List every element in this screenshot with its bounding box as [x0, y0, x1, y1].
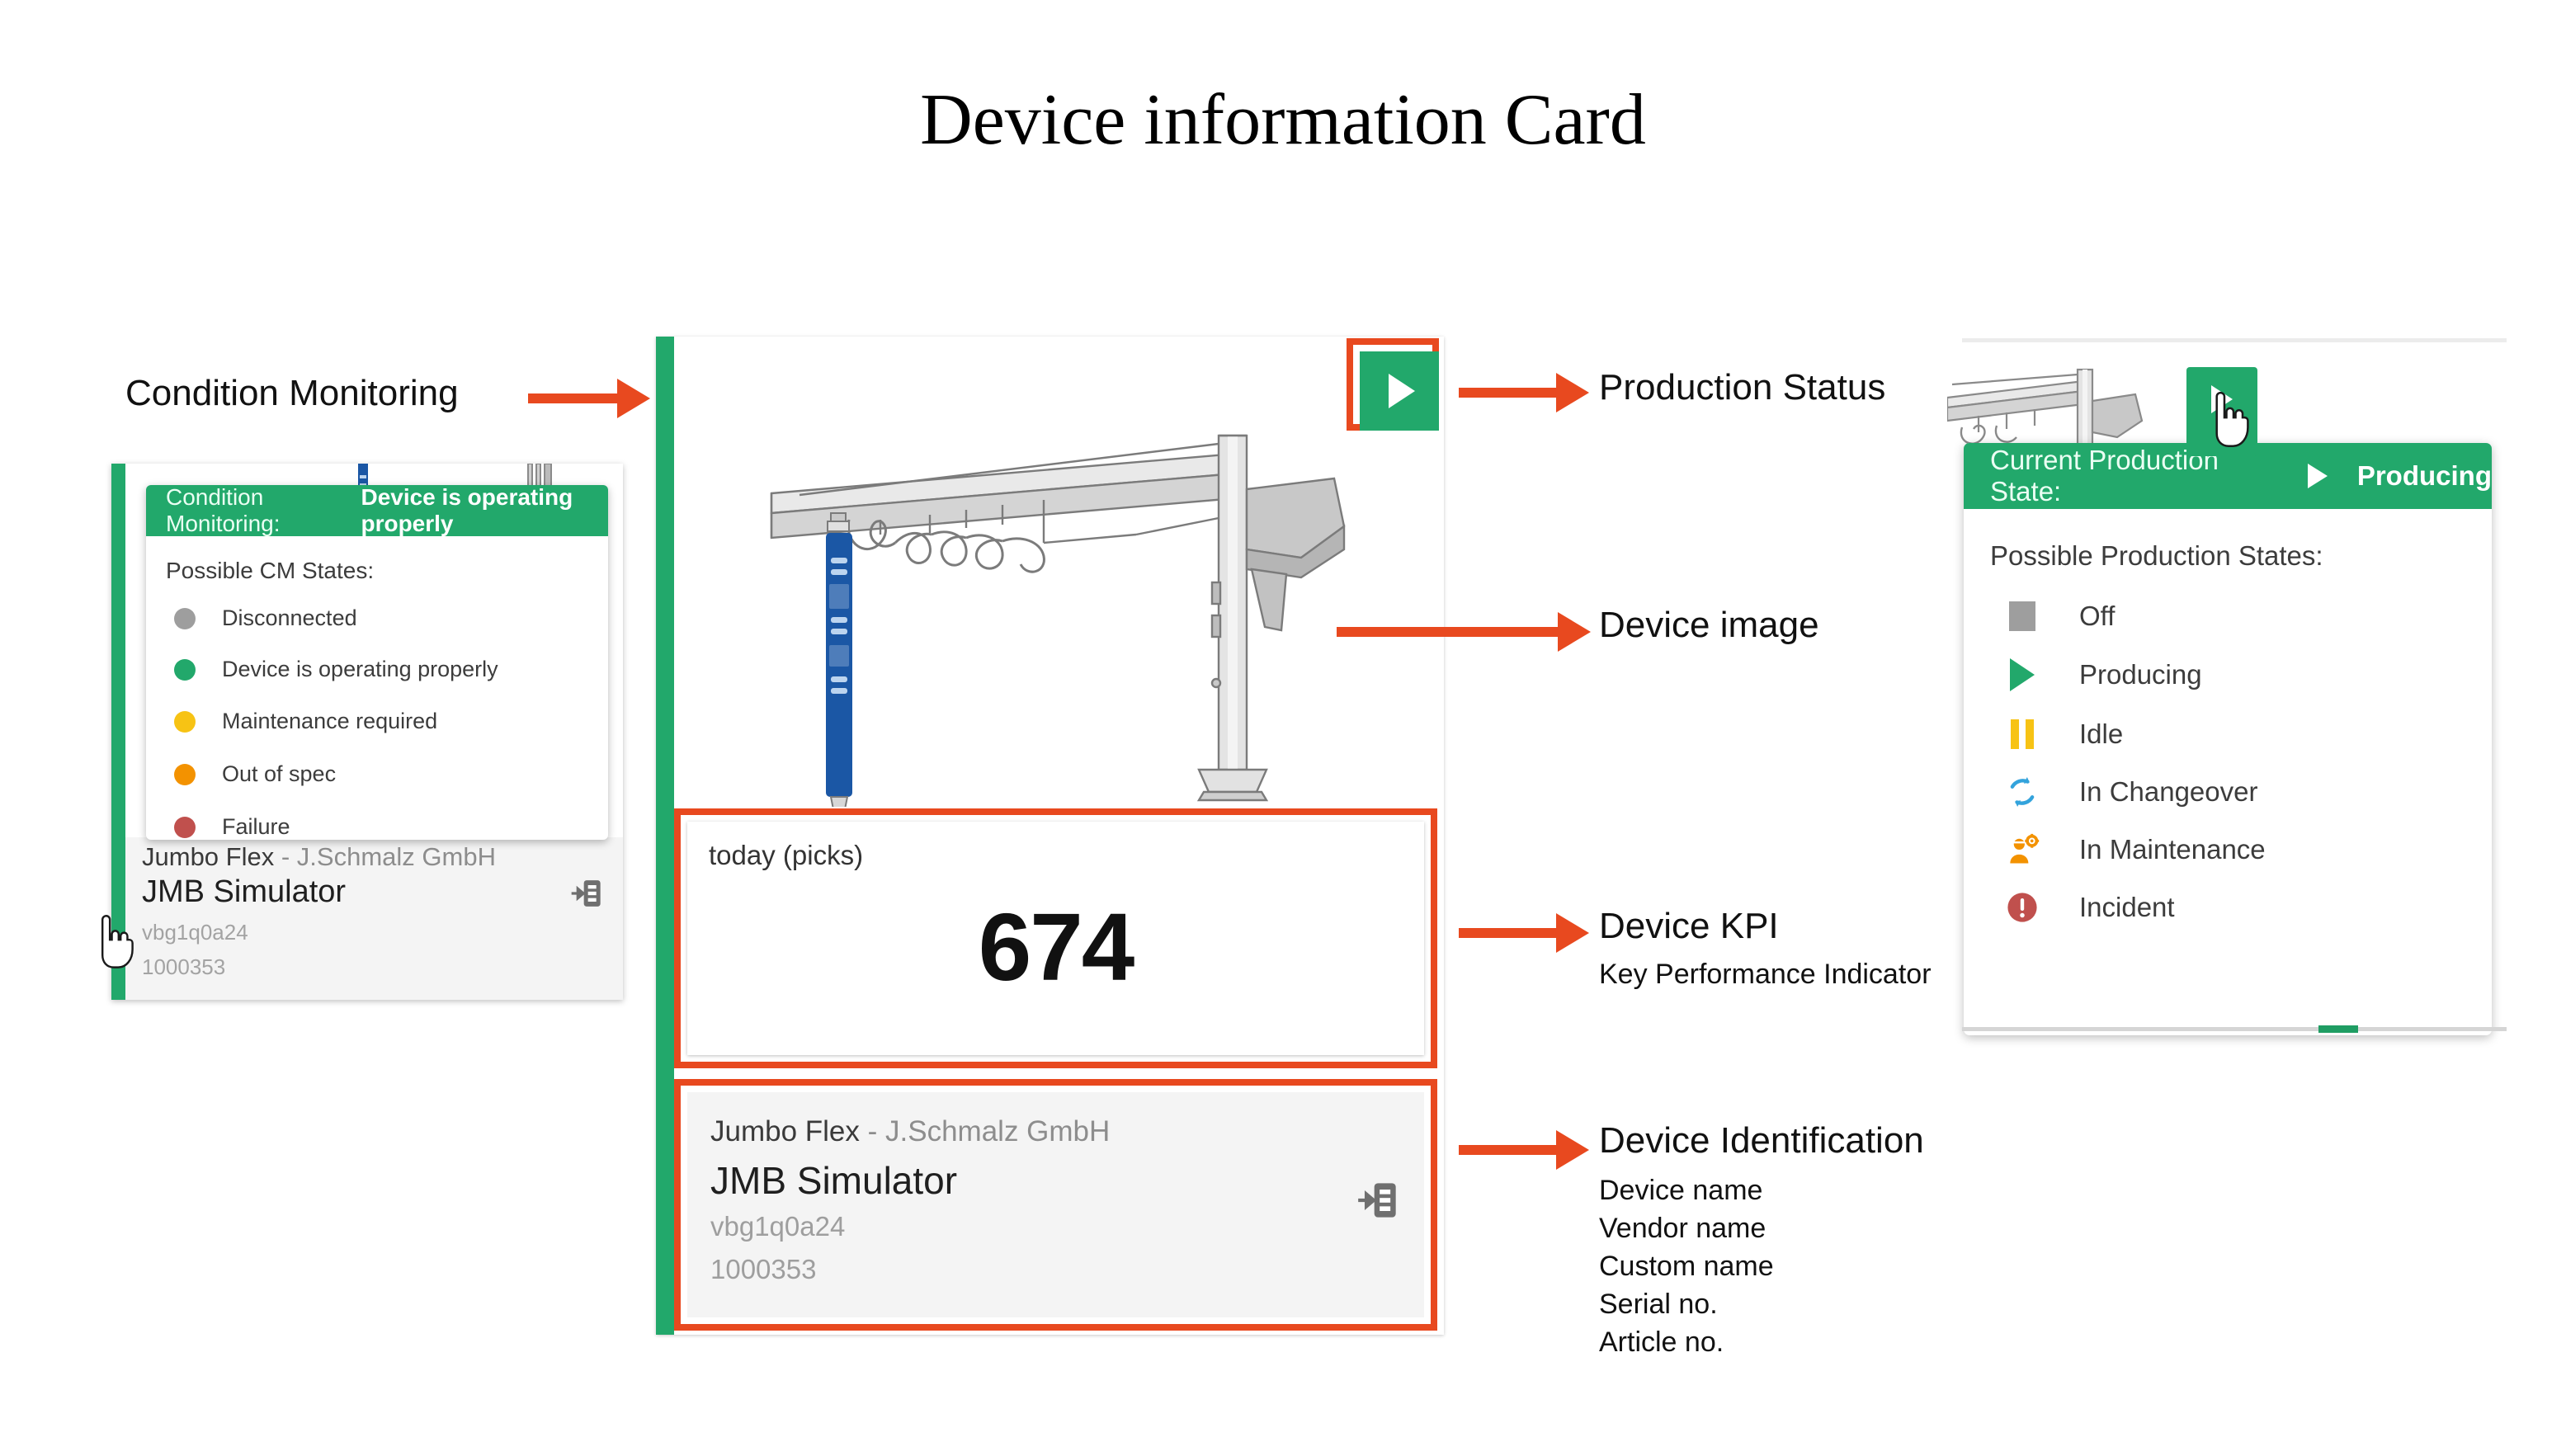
ps-state-label: Producing: [2079, 659, 2202, 690]
custom-name-left: JMB Simulator: [142, 874, 346, 910]
device-name: Jumbo Flex: [710, 1115, 860, 1147]
kpi-label: today (picks): [709, 840, 863, 871]
cm-state-row: Out of spec: [174, 761, 336, 787]
stop-square-icon: [2003, 597, 2041, 635]
cm-state-row: Failure: [174, 814, 290, 840]
annotation-sub-vendor-name: Vendor name: [1599, 1209, 1766, 1247]
status-dot-icon: [174, 659, 196, 681]
login-icon-left[interactable]: [570, 877, 603, 910]
condition-monitoring-status-strip[interactable]: [656, 337, 674, 1335]
cm-state-row: Device is operating properly: [174, 657, 498, 682]
ps-state-label: Idle: [2079, 719, 2123, 750]
cm-state-row: Disconnected: [174, 605, 357, 631]
annotation-title-production-status: Production Status: [1599, 367, 1885, 408]
card-bottom-green-marker: [2318, 1025, 2358, 1033]
annotation-sub-custom-name: Custom name: [1599, 1247, 1774, 1285]
cm-possible-states-label: Possible CM States:: [166, 558, 374, 584]
ps-state-row: Off: [2003, 597, 2115, 635]
pointing-hand-cursor-left: [91, 911, 137, 973]
cm-state-label: Maintenance required: [222, 709, 437, 734]
ps-possible-states-label: Possible Production States:: [1990, 540, 2323, 572]
device-name-left: Jumbo Flex: [142, 842, 274, 871]
serial-no-left: vbg1q0a24: [142, 920, 248, 945]
annotation-title-device-image: Device image: [1599, 605, 1819, 646]
annotation-sub-serial-no: Serial no.: [1599, 1285, 1718, 1323]
kpi-value: 674: [687, 892, 1424, 1002]
exclamation-circle-icon: [2003, 888, 2041, 926]
ps-state-row: In Maintenance: [2003, 831, 2266, 869]
name-separator-left: -: [274, 842, 297, 871]
ps-state-label: Incident: [2079, 892, 2175, 923]
cm-state-row: Maintenance required: [174, 709, 437, 734]
sync-arrows-icon: [2003, 773, 2041, 811]
play-icon: [2003, 656, 2041, 694]
annotation-title-device-kpi: Device KPI: [1599, 906, 1779, 947]
status-dot-icon: [174, 711, 196, 733]
article-no-left: 1000353: [142, 954, 225, 980]
device-kpi-card[interactable]: today (picks) 674: [687, 822, 1424, 1055]
device-kpi-highlight: today (picks) 674: [674, 808, 1437, 1068]
play-icon: [2308, 464, 2328, 488]
pause-icon: [2003, 715, 2041, 753]
annotation-title-condition-monitoring: Condition Monitoring: [125, 373, 459, 414]
custom-name: JMB Simulator: [710, 1158, 957, 1203]
condition-monitoring-tooltip: Condition Monitoring: Device is operatin…: [146, 485, 608, 840]
annotation-title-device-identification: Device Identification: [1599, 1120, 1924, 1162]
device-and-vendor-line: Jumbo Flex - J.Schmalz GmbH: [710, 1115, 1110, 1148]
ps-state-row: Incident: [2003, 888, 2175, 926]
pointing-hand-cursor-right: [2205, 388, 2252, 452]
serial-no: vbg1q0a24: [710, 1211, 845, 1242]
article-no: 1000353: [710, 1254, 816, 1285]
annotation-sub-article-no: Article no.: [1599, 1323, 1724, 1361]
device-and-vendor-line-left: Jumbo Flex - J.Schmalz GmbH: [142, 842, 496, 872]
device-identification-card-left[interactable]: Jumbo Flex - J.Schmalz GmbH JMB Simulato…: [125, 837, 623, 1000]
device-identification-card[interactable]: Jumbo Flex - J.Schmalz GmbH JMB Simulato…: [687, 1092, 1424, 1317]
ps-state-row: In Changeover: [2003, 773, 2257, 811]
ps-state-row: Producing: [2003, 656, 2202, 694]
play-icon: [1389, 374, 1415, 408]
device-image: [674, 337, 1444, 807]
status-dot-icon: [174, 817, 196, 838]
jib-crane-vacuum-lifter-illustration: [674, 337, 1444, 807]
ps-state-label: Off: [2079, 601, 2115, 632]
condition-monitoring-tooltip-header: Condition Monitoring: Device is operatin…: [146, 485, 608, 536]
cm-state-label: Device is operating properly: [222, 657, 498, 682]
card-bottom-divider: [1962, 1027, 2507, 1031]
cm-header-value: Device is operating properly: [361, 484, 608, 537]
cm-state-label: Disconnected: [222, 605, 357, 631]
login-icon[interactable]: [1356, 1179, 1399, 1222]
ps-state-label: In Changeover: [2079, 776, 2257, 808]
worker-gear-icon: [2003, 831, 2041, 869]
production-status-button[interactable]: [1360, 351, 1439, 431]
ps-header-value: Producing: [2357, 460, 2492, 492]
cm-state-label: Out of spec: [222, 761, 336, 787]
vendor-name: J.Schmalz GmbH: [885, 1115, 1110, 1147]
ps-state-row: Idle: [2003, 715, 2123, 753]
card-top-divider: [1962, 338, 2507, 342]
name-separator: -: [860, 1115, 885, 1147]
status-dot-icon: [174, 608, 196, 629]
device-identification-highlight: Jumbo Flex - J.Schmalz GmbH JMB Simulato…: [674, 1079, 1437, 1331]
cm-header-label: Condition Monitoring:: [166, 484, 339, 537]
annotation-sub-device-kpi: Key Performance Indicator: [1599, 955, 1932, 993]
page-title: Device information Card: [0, 78, 2566, 162]
production-state-tooltip: Current Production State: Producing Poss…: [1964, 443, 2492, 1035]
ps-state-label: In Maintenance: [2079, 834, 2266, 865]
production-status-highlight: [1347, 338, 1439, 431]
cm-state-label: Failure: [222, 814, 290, 840]
status-dot-icon: [174, 764, 196, 785]
annotation-sub-device-name: Device name: [1599, 1171, 1762, 1209]
vendor-name-left: J.Schmalz GmbH: [297, 842, 496, 871]
